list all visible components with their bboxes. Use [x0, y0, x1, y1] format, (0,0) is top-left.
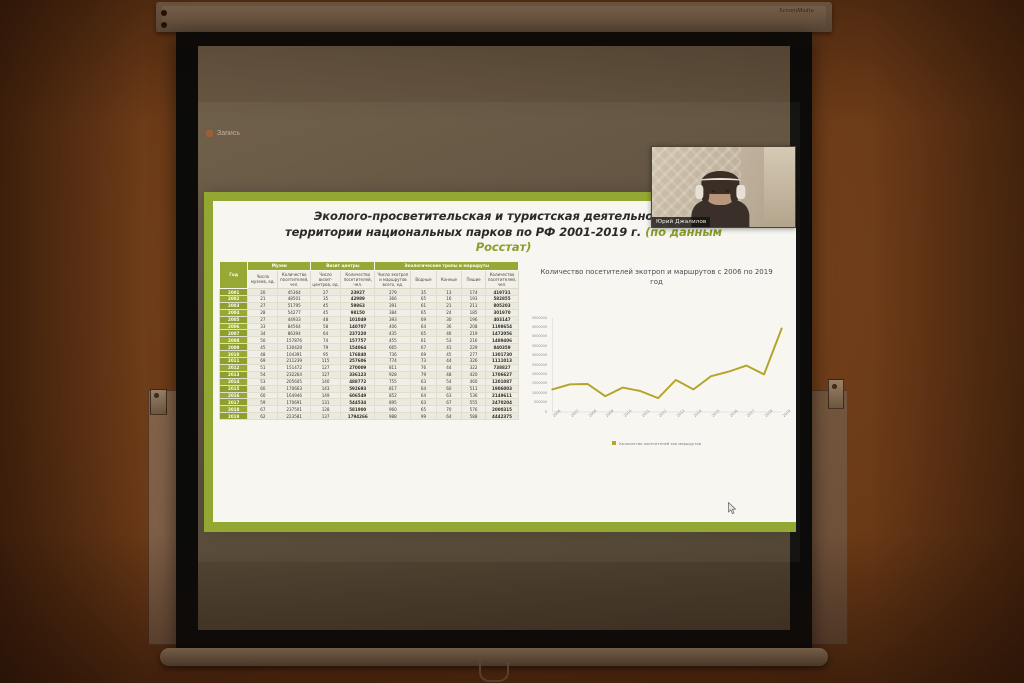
visitors-line-chart: Количество посетителей экотроп и маршрут…: [525, 261, 788, 442]
table-cell: 140707: [341, 323, 375, 330]
chart-series-line: [552, 328, 781, 398]
table-cell: 45: [311, 309, 341, 316]
table-cell: 232264: [278, 371, 311, 378]
table-cell: 115: [311, 358, 341, 365]
table-cell-year: 2008: [220, 337, 248, 344]
slide-body: Год Музеи Визит центры Экологические тро…: [219, 261, 788, 442]
table-cell: 45364: [278, 289, 311, 296]
table-cell: 131: [311, 399, 341, 406]
table-cell: 127: [311, 364, 341, 371]
table-row: 2010481043919517684073669452771301730: [220, 351, 519, 358]
table-cell: 211239: [278, 358, 311, 365]
table-cell: 50: [248, 337, 278, 344]
table-cell: 63: [411, 399, 436, 406]
table-cell: 257606: [341, 358, 375, 365]
table-cell: 555: [462, 399, 486, 406]
slide-accent-band-left: [204, 192, 213, 532]
table-cell: 391: [375, 302, 411, 309]
table-row: 2003275179545598633916121211805203: [220, 302, 519, 309]
table-cell: 384: [375, 309, 411, 316]
table-cell: 63: [411, 378, 436, 385]
th-vizit-centry: Визит центры: [311, 261, 375, 270]
table-cell: 104391: [278, 351, 311, 358]
table-cell: 270009: [341, 364, 375, 371]
table-cell: 582855: [486, 296, 519, 303]
projector-screen-housing: ScreenMedia: [156, 2, 832, 32]
table-cell: 101049: [341, 316, 375, 323]
chart-ytick-label: 500000: [525, 400, 547, 404]
table-sub-header-row: Число музеев, ед. Количество посетителей…: [220, 270, 519, 289]
table-cell: 41: [436, 344, 461, 351]
table-cell: 21: [436, 302, 461, 309]
th-vodnye: Водные: [411, 270, 436, 289]
table-row: 200633845645814070740664362081198654: [220, 323, 519, 330]
table-cell: 79: [411, 371, 436, 378]
table-cell: 44: [436, 364, 461, 371]
table-cell: 581900: [341, 406, 375, 413]
table-cell: 2000315: [486, 406, 519, 413]
table-cell: 588: [462, 413, 486, 420]
table-cell: 16: [436, 296, 461, 303]
table-cell: 21: [248, 296, 278, 303]
table-cell: 28: [248, 309, 278, 316]
table-cell-year: 2012: [220, 364, 248, 371]
chart-ytick-label: 2000000: [525, 372, 547, 376]
legend-label: Количество посетителей эко маршрутов: [619, 441, 701, 446]
table-cell: 64: [436, 413, 461, 420]
table-cell: 64: [311, 330, 341, 337]
table-row: 2002214850135429893666516193582855: [220, 296, 519, 303]
table-cell: 196: [462, 316, 486, 323]
th-chislo-muzeev: Число музеев, ед.: [248, 270, 278, 289]
th-eko-tropy: Экологические тропы и маршруты: [375, 261, 519, 270]
table-cell: 64: [411, 385, 436, 392]
housing-mount-screw: [161, 10, 167, 16]
table-row: 20166016494614960654985264635362149611: [220, 392, 519, 399]
table-cell: 48: [311, 316, 341, 323]
table-cell: 219: [462, 330, 486, 337]
projector-brand-label: ScreenMedia: [779, 8, 814, 14]
table-cell: 460: [462, 378, 486, 385]
table-cell: 54277: [278, 309, 311, 316]
table-cell: 45: [436, 351, 461, 358]
table-cell: 185: [462, 309, 486, 316]
table-cell: 53: [248, 378, 278, 385]
table-cell: 326: [462, 358, 486, 365]
table-cell-year: 2019: [220, 413, 248, 420]
table-cell: 67: [411, 344, 436, 351]
table-cell: 435: [375, 330, 411, 337]
chart-title: Количество посетителей экотроп и маршрут…: [525, 263, 788, 288]
bracket-screw: [832, 384, 837, 389]
table-cell: 67: [248, 406, 278, 413]
table-cell: 23927: [341, 289, 375, 296]
table-cell: 277: [462, 351, 486, 358]
table-cell: 63: [436, 392, 461, 399]
table-cell: 1198654: [486, 323, 519, 330]
table-cell: 170663: [278, 385, 311, 392]
table-cell: 488772: [341, 378, 375, 385]
table-row: 20052744933481010493936930196403147: [220, 316, 519, 323]
table-cell: 852: [375, 392, 411, 399]
table-cell-year: 2018: [220, 406, 248, 413]
person-eye-left: [711, 190, 715, 192]
recording-indicator: Запись: [206, 130, 240, 137]
table-cell: 419731: [486, 289, 519, 296]
th-chislo-vizit-centrov: Число визит-центров, ед.: [311, 270, 341, 289]
table-row: 2008501578767415775745561532161489406: [220, 337, 519, 344]
chart-svg: [525, 314, 788, 442]
table-cell: 34: [248, 330, 278, 337]
table-cell: 36: [436, 323, 461, 330]
projected-image: Запись Эколого-просветительская и турист…: [198, 102, 800, 562]
chart-ytick-label: 0: [525, 410, 547, 414]
table-cell: 45: [311, 302, 341, 309]
table-cell: 27: [248, 302, 278, 309]
table-cell: 805203: [486, 302, 519, 309]
table-cell: 208: [462, 323, 486, 330]
table-cell-year: 2014: [220, 378, 248, 385]
table-body: 2001204536427239272793513174419731200221…: [220, 289, 519, 420]
table-cell: 79: [311, 344, 341, 351]
table-cell: 44: [436, 358, 461, 365]
table-cell: 817: [375, 385, 411, 392]
table-head: Год Музеи Визит центры Экологические тро…: [220, 261, 519, 289]
table-cell: 98150: [341, 309, 375, 316]
th-muzei: Музеи: [248, 261, 311, 270]
table-row: 20186723750112858190096065705762000315: [220, 406, 519, 413]
whiteboard-bracket-right: [828, 379, 844, 409]
table-cell: 1472056: [486, 330, 519, 337]
table-cell: 576: [462, 406, 486, 413]
table-cell: 322: [462, 364, 486, 371]
slide-title-line2: территории национальных парков по РФ 200…: [285, 225, 641, 239]
webcam-door: [764, 147, 795, 227]
chart-ytick-label: 4000000: [525, 334, 547, 338]
th-kolvo-posetitelej-muzei: Количество посетителей, чел.: [278, 270, 311, 289]
table-cell-year: 2004: [220, 309, 248, 316]
chart-legend: Количество посетителей эко маршрутов: [525, 441, 788, 446]
table-cell: 86394: [278, 330, 311, 337]
table-cell: 403147: [486, 316, 519, 323]
table-cell-year: 2013: [220, 371, 248, 378]
table-cell: 840359: [486, 344, 519, 351]
table-cell: 143: [311, 385, 341, 392]
table-cell: 170691: [278, 399, 311, 406]
table-cell: 45: [248, 344, 278, 351]
table-cell: 4442375: [486, 413, 519, 420]
table-cell: 51795: [278, 302, 311, 309]
table-cell: 420: [462, 371, 486, 378]
table-cell: 511: [462, 385, 486, 392]
table-cell: 128: [311, 406, 341, 413]
table-cell: 84564: [278, 323, 311, 330]
webcam-video-tile[interactable]: Юрий Джалилов: [651, 146, 796, 228]
table-cell: 336123: [341, 371, 375, 378]
table-cell: 54: [248, 371, 278, 378]
table-cell: 1906003: [486, 385, 519, 392]
table-cell: 665: [375, 344, 411, 351]
table-cell-year: 2005: [220, 316, 248, 323]
table-cell: 592693: [341, 385, 375, 392]
table-cell-year: 2001: [220, 289, 248, 296]
table-cell: 69: [411, 351, 436, 358]
table-cell: 229: [462, 344, 486, 351]
headphones-earcup-left-icon: [695, 185, 704, 199]
table-cell: 48: [436, 371, 461, 378]
th-kolvo-posetitelej-tropy: Количество посетителей, чел.: [486, 270, 519, 289]
table-cell: 536: [462, 392, 486, 399]
table-cell: 154064: [341, 344, 375, 351]
chart-ytick-label: 2500000: [525, 363, 547, 367]
table-row: 20135423226412733612392879484201706627: [220, 371, 519, 378]
table-row: 201962223581137179426698899645884442375: [220, 413, 519, 420]
presentation-slide: Эколого-просветительская и туристская де…: [204, 192, 796, 532]
table-cell: 455: [375, 337, 411, 344]
table-cell: 65: [411, 330, 436, 337]
legend-swatch-icon: [612, 441, 616, 445]
statistics-table-wrapper: Год Музеи Визит центры Экологические тро…: [219, 261, 519, 442]
table-cell: 70: [436, 406, 461, 413]
table-cell: 137: [311, 413, 341, 420]
table-cell: 811: [375, 364, 411, 371]
table-cell: 544534: [341, 399, 375, 406]
table-cell: 65: [411, 406, 436, 413]
table-cell-year: 2006: [220, 323, 248, 330]
table-cell: 301970: [486, 309, 519, 316]
th-kolvo-posetitelej-vc: Количество посетителей, чел.: [341, 270, 375, 289]
table-cell: 67: [436, 399, 461, 406]
table-cell: 393: [375, 316, 411, 323]
table-cell: 755: [375, 378, 411, 385]
table-row: 200945130428791540646656741229840359: [220, 344, 519, 351]
chart-ytick-label: 1500000: [525, 381, 547, 385]
table-cell: 1201087: [486, 378, 519, 385]
table-cell: 606549: [341, 392, 375, 399]
housing-face: [162, 6, 826, 29]
housing-mount-screw: [161, 22, 167, 28]
table-cell: 774: [375, 358, 411, 365]
table-cell: 51: [248, 364, 278, 371]
chart-plot-area: 5000000450000040000003500000300000025000…: [525, 314, 788, 442]
table-cell: 69: [411, 316, 436, 323]
table-cell: 61: [411, 302, 436, 309]
participant-name-label: Юрий Джалилов: [652, 217, 710, 227]
table-cell: 27: [311, 289, 341, 296]
headphones-band-icon: [699, 178, 741, 183]
table-cell: 53: [436, 337, 461, 344]
chart-ytick-label: 1000000: [525, 391, 547, 395]
table-cell: 61: [411, 337, 436, 344]
table-cell: 279: [375, 289, 411, 296]
slide-title-source-close: Росстат): [476, 240, 532, 254]
table-cell: 1111013: [486, 358, 519, 365]
table-row: 2001204536427239272793513174419731: [220, 289, 519, 296]
table-cell: 76: [411, 364, 436, 371]
table-cell: 237501: [278, 406, 311, 413]
table-cell: 54: [436, 378, 461, 385]
table-cell: 736: [375, 351, 411, 358]
table-cell: 211: [462, 302, 486, 309]
chart-ytick-label: 5000000: [525, 316, 547, 320]
table-cell: 74: [311, 337, 341, 344]
table-cell: 205605: [278, 378, 311, 385]
table-cell: 42989: [341, 296, 375, 303]
table-row: 20145320560514048877275563544601201087: [220, 378, 519, 385]
table-cell: 60: [248, 392, 278, 399]
table-cell: 30: [436, 316, 461, 323]
table-cell-year: 2010: [220, 351, 248, 358]
th-chislo-ekotrop: Число экотроп и маршрутов всего, ед.: [375, 270, 411, 289]
table-cell: 164946: [278, 392, 311, 399]
table-row: 2012511514721272700098117644322738827: [220, 364, 519, 371]
slide-title-line1: Эколого-просветительская и туристская де…: [314, 209, 693, 223]
table-cell: 65: [411, 309, 436, 316]
table-cell: 1301730: [486, 351, 519, 358]
table-cell: 64: [411, 392, 436, 399]
table-cell-year: 2009: [220, 344, 248, 351]
table-cell: 174: [462, 289, 486, 296]
table-cell: 157876: [278, 337, 311, 344]
table-cell: 2149611: [486, 392, 519, 399]
table-cell: 62: [248, 413, 278, 420]
table-row: 20175917069113154453489563675552470204: [220, 399, 519, 406]
table-cell: 24: [436, 309, 461, 316]
recording-label: Запись: [217, 130, 240, 137]
table-cell: 95: [311, 351, 341, 358]
table-cell-year: 2015: [220, 385, 248, 392]
screen-pull-handle[interactable]: [479, 662, 509, 682]
table-cell: 960: [375, 406, 411, 413]
record-icon: [206, 130, 213, 137]
table-cell: 140: [311, 378, 341, 385]
table-cell: 33: [248, 323, 278, 330]
person-eye-right: [725, 190, 729, 192]
th-god: Год: [220, 261, 248, 289]
table-cell: 48: [248, 351, 278, 358]
table-cell: 20: [248, 289, 278, 296]
table-row: 20156017066314359269381764605111906003: [220, 385, 519, 392]
table-cell: 738827: [486, 364, 519, 371]
table-cell: 1706627: [486, 371, 519, 378]
table-row: 20116921123911525760677473443261111013: [220, 358, 519, 365]
table-cell: 35: [411, 289, 436, 296]
table-cell: 406: [375, 323, 411, 330]
table-cell: 216: [462, 337, 486, 344]
table-row: 200734863946423722043565462191472056: [220, 330, 519, 337]
table-cell: 59863: [341, 302, 375, 309]
table-cell: 895: [375, 399, 411, 406]
table-cell: 73: [411, 358, 436, 365]
table-cell-year: 2002: [220, 296, 248, 303]
bracket-screw: [154, 393, 159, 398]
th-konnye: Конные: [436, 270, 461, 289]
table-cell: 130428: [278, 344, 311, 351]
table-cell: 193: [462, 296, 486, 303]
table-cell: 223581: [278, 413, 311, 420]
table-cell: 988: [375, 413, 411, 420]
table-cell: 127: [311, 371, 341, 378]
table-cell-year: 2007: [220, 330, 248, 337]
table-cell: 151472: [278, 364, 311, 371]
chart-ytick-label: 3500000: [525, 344, 547, 348]
table-cell: 48501: [278, 296, 311, 303]
table-cell-year: 2011: [220, 358, 248, 365]
table-cell-year: 2003: [220, 302, 248, 309]
chart-ytick-label: 4500000: [525, 325, 547, 329]
table-cell: 69: [248, 358, 278, 365]
chart-ytick-label: 3000000: [525, 353, 547, 357]
table-cell-year: 2017: [220, 399, 248, 406]
table-cell: 1794266: [341, 413, 375, 420]
table-cell: 366: [375, 296, 411, 303]
whiteboard-bracket-left: [150, 389, 167, 415]
table-cell: 1489406: [486, 337, 519, 344]
table-group-header-row: Год Музеи Визит центры Экологические тро…: [220, 261, 519, 270]
headphones-earcup-right-icon: [737, 185, 746, 199]
table-cell-year: 2016: [220, 392, 248, 399]
table-cell: 99: [411, 413, 436, 420]
slide-accent-band-bottom: [204, 522, 796, 532]
statistics-table: Год Музеи Визит центры Экологические тро…: [219, 261, 519, 421]
table-cell: 237220: [341, 330, 375, 337]
table-cell: 60: [248, 385, 278, 392]
table-cell: 928: [375, 371, 411, 378]
table-cell: 157757: [341, 337, 375, 344]
table-cell: 65: [411, 296, 436, 303]
table-cell: 2470204: [486, 399, 519, 406]
table-cell: 35: [311, 296, 341, 303]
table-cell: 58: [311, 323, 341, 330]
table-cell: 46: [436, 330, 461, 337]
table-cell: 64: [411, 323, 436, 330]
th-peshie: Пешие: [462, 270, 486, 289]
table-cell: 176840: [341, 351, 375, 358]
table-cell: 44933: [278, 316, 311, 323]
table-cell: 60: [436, 385, 461, 392]
table-cell: 13: [436, 289, 461, 296]
table-cell: 59: [248, 399, 278, 406]
slide-content: Эколого-просветительская и туристская де…: [213, 201, 796, 522]
table-row: 2004285427745981503846524185301970: [220, 309, 519, 316]
table-cell: 27: [248, 316, 278, 323]
table-cell: 149: [311, 392, 341, 399]
